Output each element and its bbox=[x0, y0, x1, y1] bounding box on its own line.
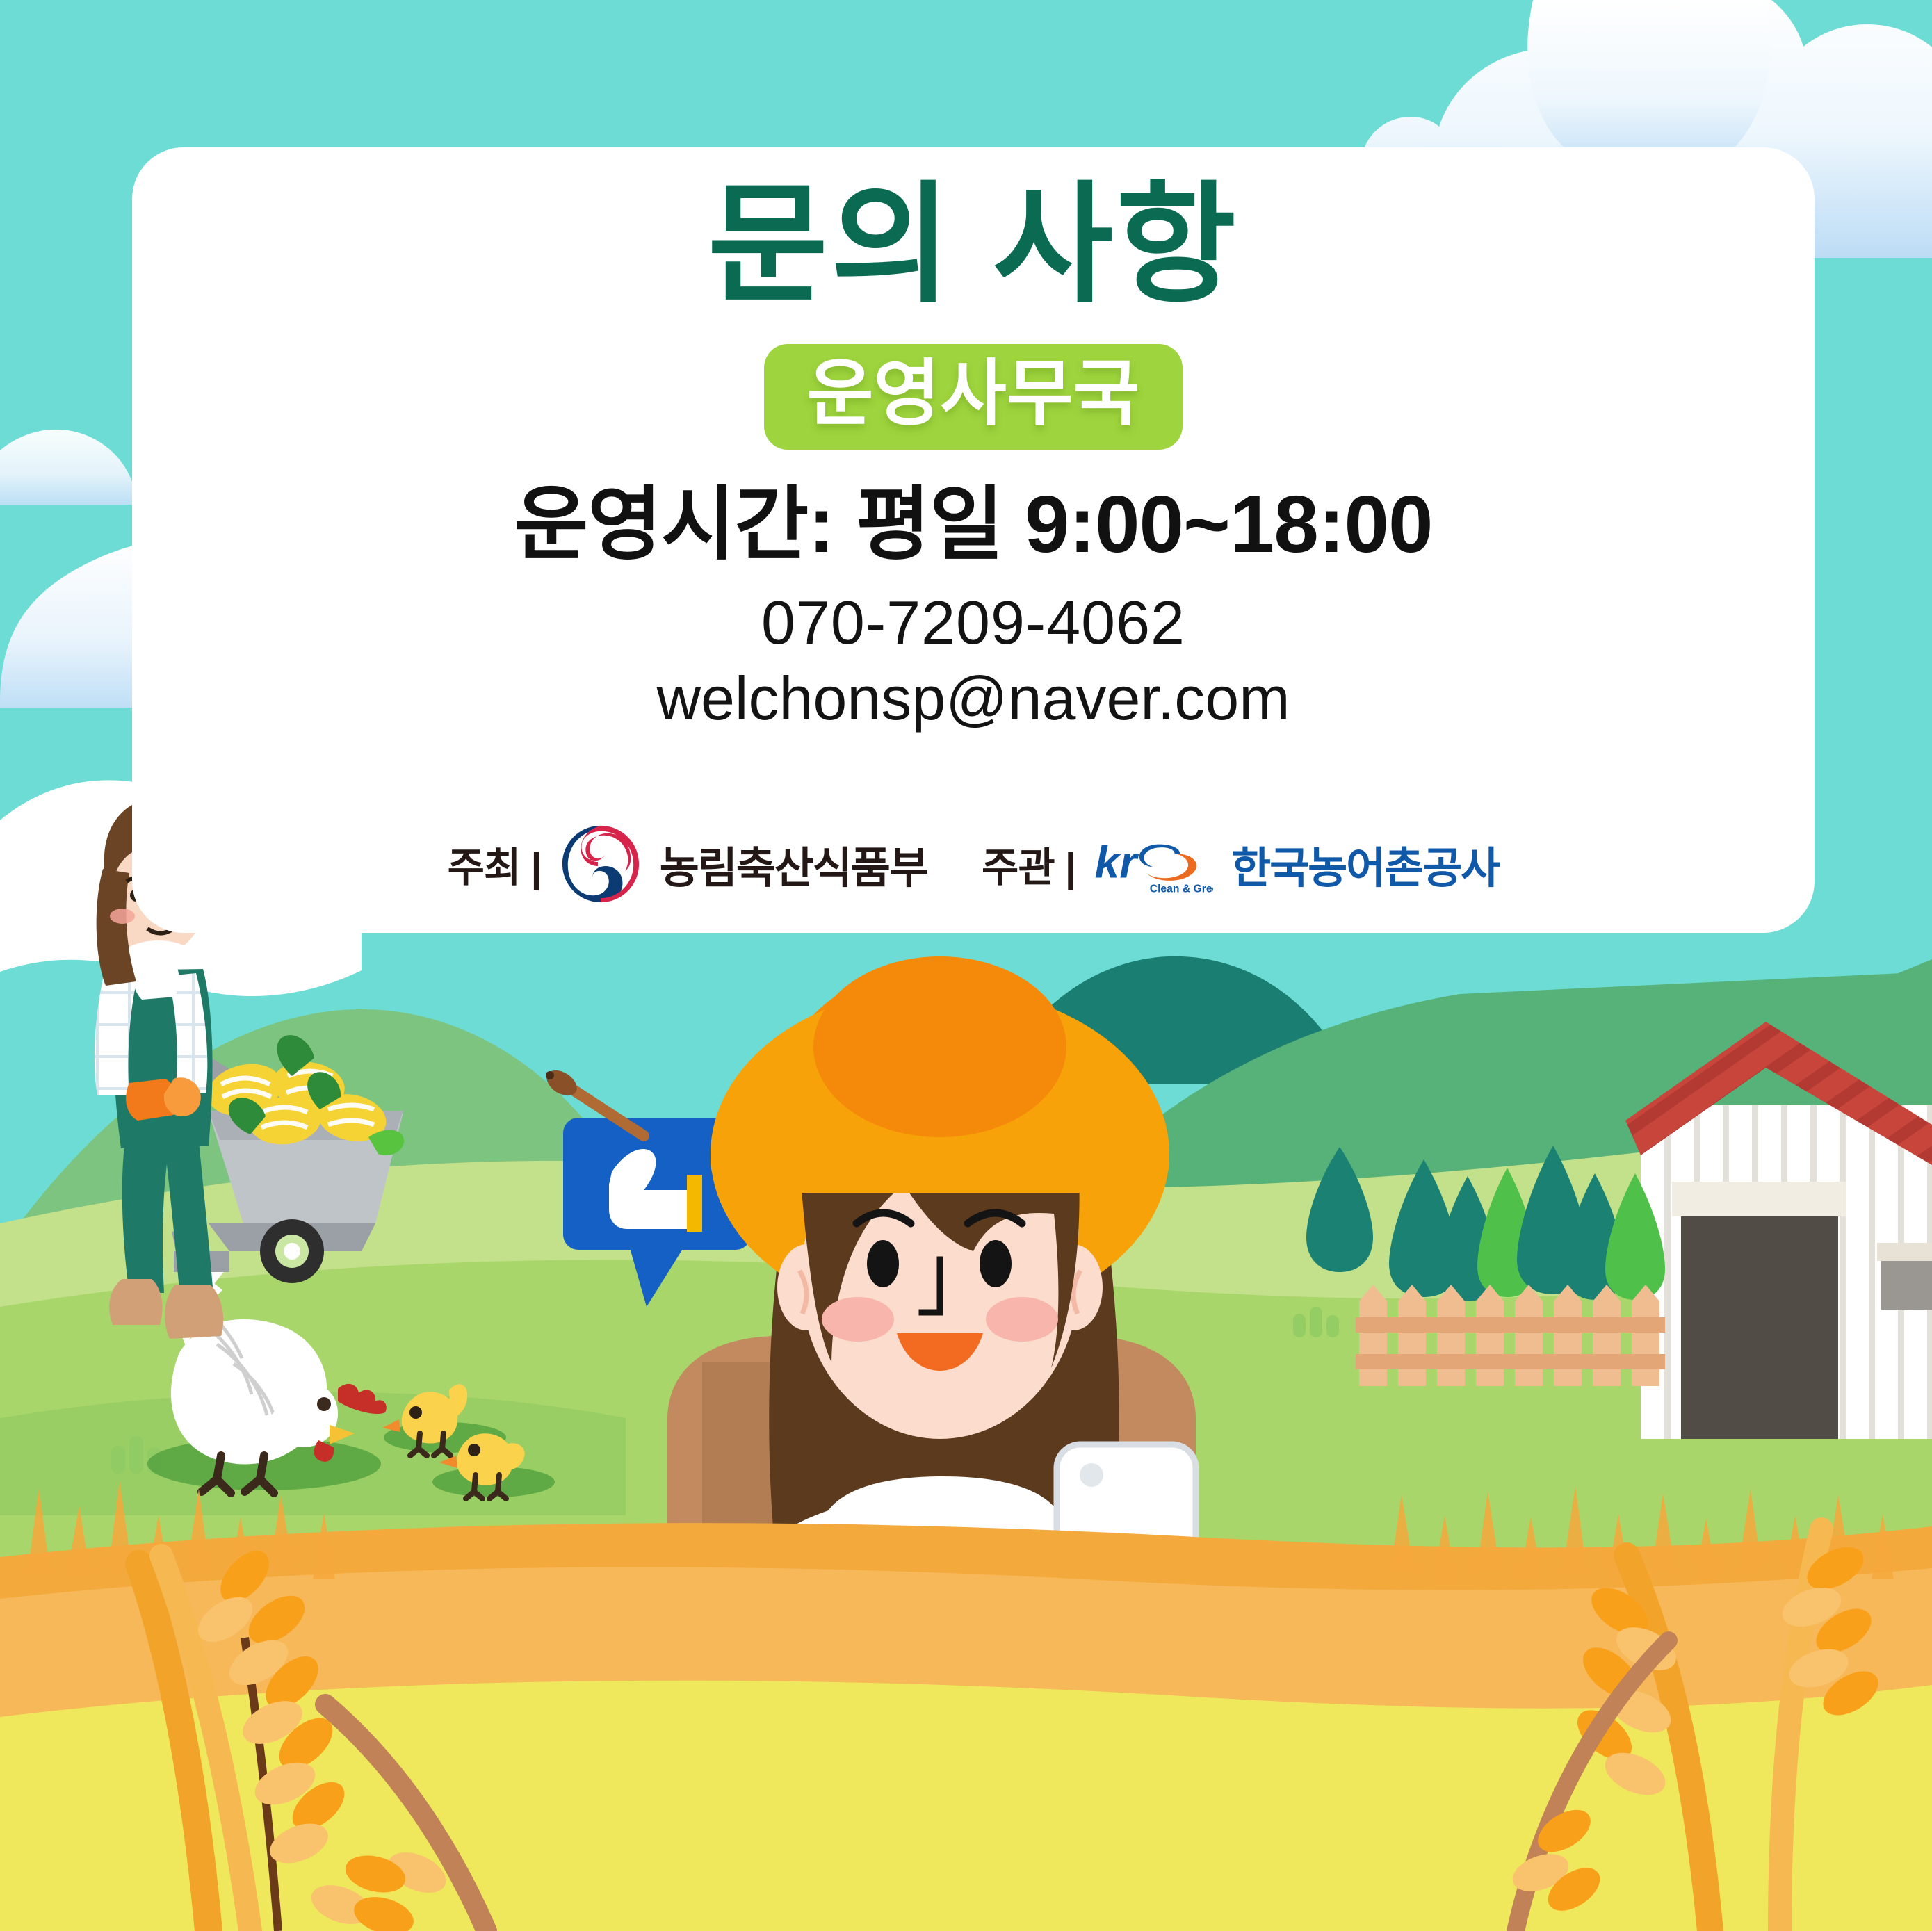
page-title: 문의 사항 bbox=[708, 177, 1239, 313]
organizer-name: 한국농어촌공사 bbox=[1231, 833, 1499, 895]
korea-government-taeguk-icon bbox=[560, 823, 642, 905]
status-badge: 운영사무국 bbox=[764, 344, 1183, 450]
operating-hours: 운영시간: 평일 9:00~18:00 bbox=[514, 480, 1432, 569]
host-label: 주최 | bbox=[448, 835, 542, 893]
svg-text:kr: kr bbox=[1095, 837, 1139, 887]
kr-logo-tagline: Clean & Green bbox=[1150, 883, 1213, 895]
poster-canvas: 문의 사항 운영사무국 운영시간: 평일 9:00~18:00 070-7209… bbox=[0, 0, 1932, 1931]
organizer-label: 주관 | bbox=[982, 835, 1075, 893]
sponsor-row: 주최 | 농림축산식품부 주관 | kr Clean & Green 한국농어촌… bbox=[132, 823, 1815, 905]
info-card: 문의 사항 운영사무국 운영시간: 평일 9:00~18:00 070-7209… bbox=[132, 147, 1815, 933]
host-name: 농림축산식품부 bbox=[660, 833, 927, 895]
email-address[interactable]: welchonsp@naver.com bbox=[656, 663, 1290, 733]
phone-number[interactable]: 070-7209-4062 bbox=[761, 587, 1185, 658]
korea-rural-community-corp-logo-icon: kr Clean & Green bbox=[1094, 832, 1213, 896]
barn-door bbox=[1681, 1216, 1838, 1439]
